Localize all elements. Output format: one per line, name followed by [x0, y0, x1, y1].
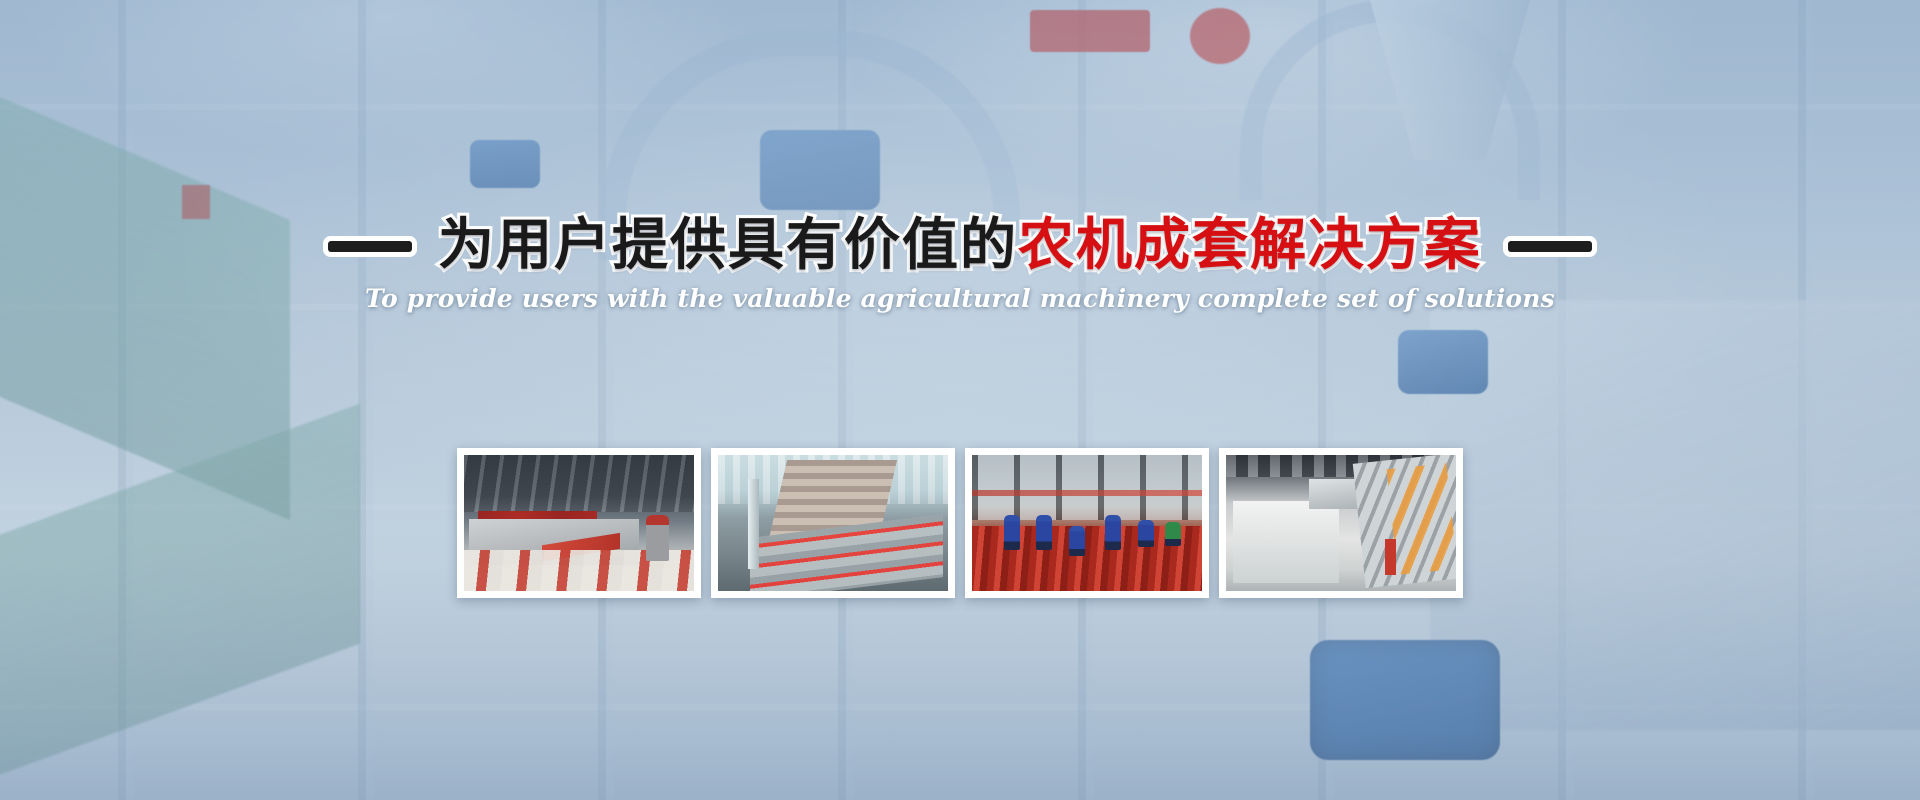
t3-red-rail — [972, 490, 1202, 495]
thumbnail-drying-line-hall[interactable] — [457, 448, 701, 598]
hero-banner: 为用户提供具有价值的农机成套解决方案 To provide users with… — [0, 0, 1920, 800]
thumbnail-workers-raking-peppers[interactable] — [965, 448, 1209, 598]
t3-worker-5 — [1138, 520, 1154, 547]
t1-roof — [464, 455, 694, 512]
subheadline-text: To provide users with the valuable agric… — [0, 284, 1920, 313]
t3-worker-4 — [1105, 515, 1121, 550]
background-blue-wash — [0, 0, 1920, 800]
t3-worker-1 — [1004, 515, 1020, 550]
thumbnail-image-3 — [972, 455, 1202, 591]
t4-dryer-tunnel — [1233, 501, 1339, 583]
t1-worker — [646, 515, 669, 561]
t4-red-cabinet — [1385, 539, 1397, 574]
headline-row: 为用户提供具有价值的农机成套解决方案 — [0, 215, 1920, 278]
headline-dash-right — [1508, 241, 1592, 252]
headline-dash-left — [328, 241, 412, 252]
t3-worker-3 — [1069, 526, 1085, 556]
headline-title: 为用户提供具有价值的农机成套解决方案 — [438, 215, 1482, 278]
t4-produce — [1386, 463, 1456, 575]
thumbnail-strip — [457, 448, 1463, 598]
thumbnail-mesh-conveyor-berries[interactable] — [711, 448, 955, 598]
t3-worker-green — [1165, 522, 1181, 546]
thumbnail-image-2 — [718, 455, 948, 591]
t3-steel-frame — [972, 455, 1202, 520]
t3-worker-2 — [1036, 515, 1052, 550]
thumbnail-image-1 — [464, 455, 694, 591]
thumbnail-bucket-conveyor-produce[interactable] — [1219, 448, 1463, 598]
headline-title-plain: 为用户提供具有价值的 — [438, 213, 1018, 278]
headline-title-accent: 农机成套解决方案 — [1018, 213, 1482, 278]
thumbnail-image-4 — [1226, 455, 1456, 591]
t2-support-post — [748, 479, 760, 569]
